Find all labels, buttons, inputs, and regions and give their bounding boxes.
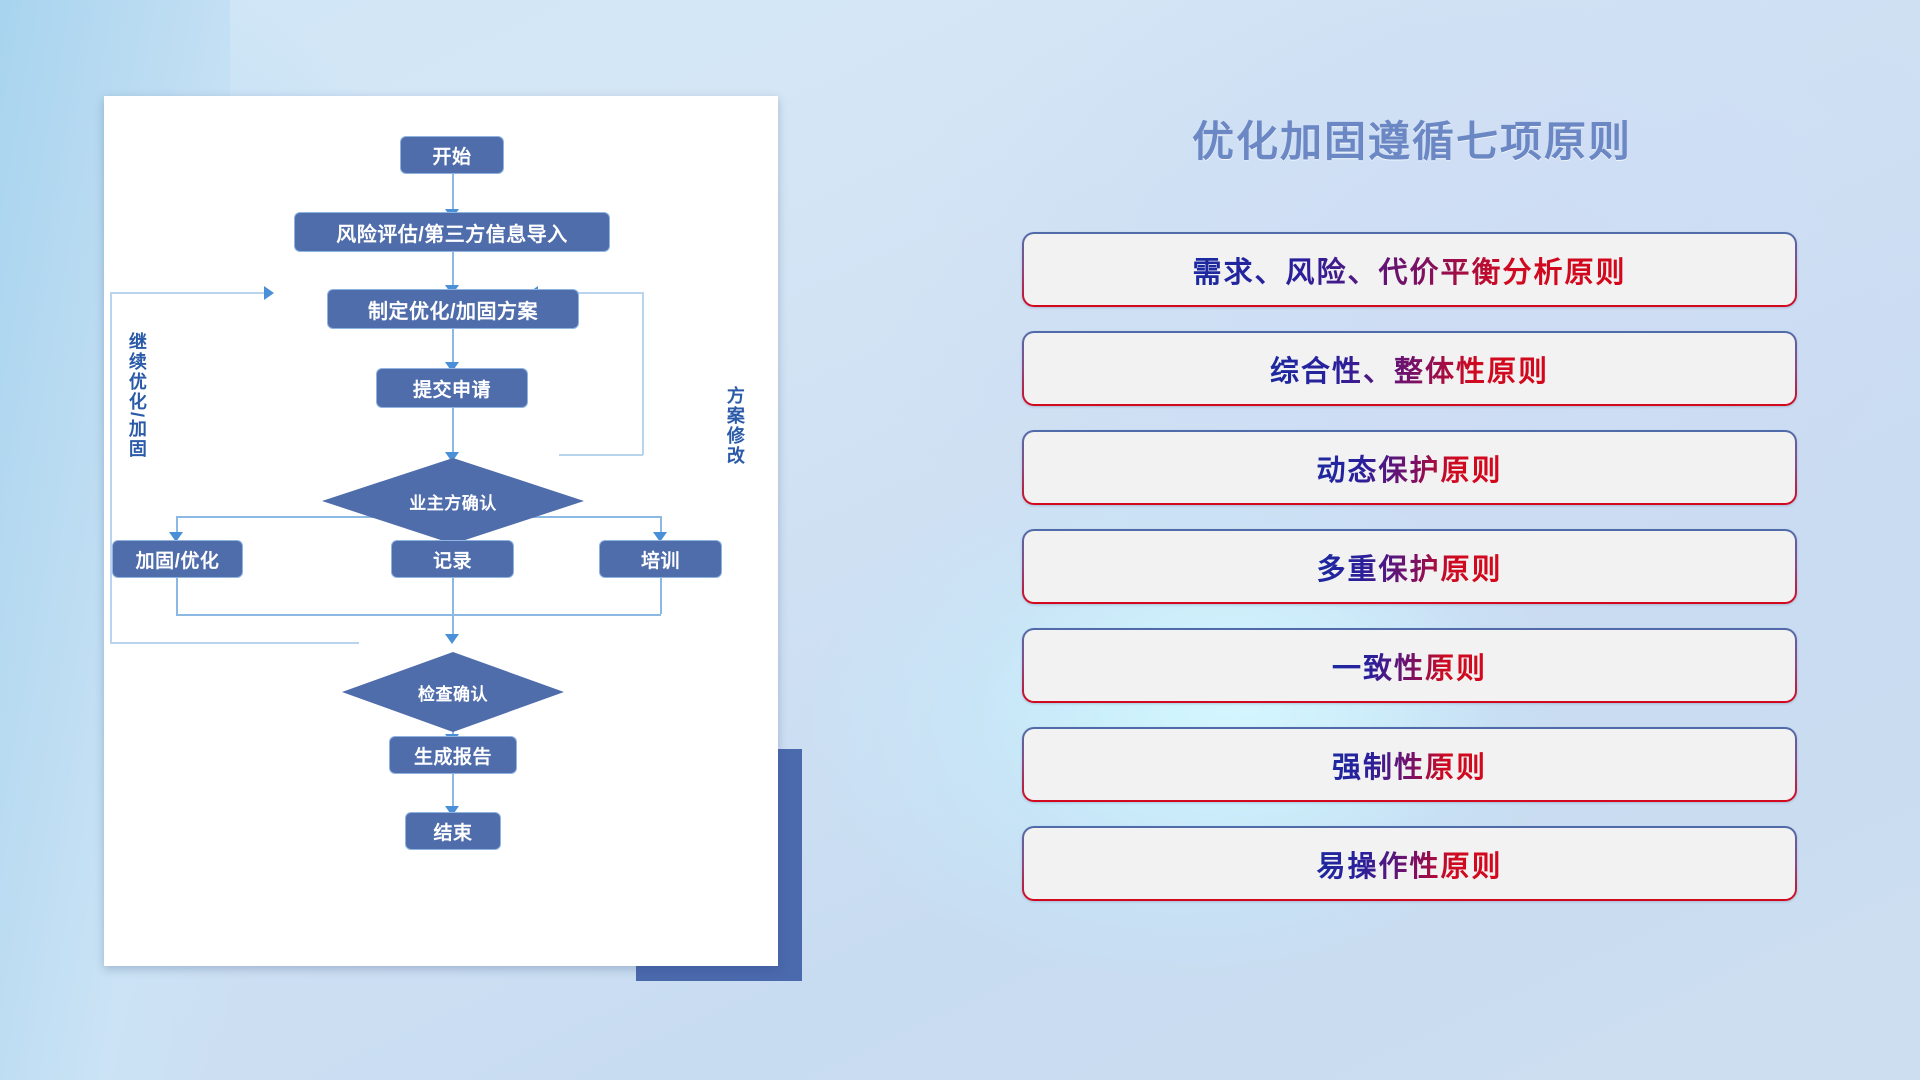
flow-node-submit[interactable]: 提交申请 xyxy=(376,368,528,408)
principle-item-inner: 动态保护原则 xyxy=(1024,432,1795,503)
principle-item-inner: 易操作性原则 xyxy=(1024,828,1795,899)
connector-merge-bar xyxy=(176,614,661,616)
edge-label-continue-optimize: 继续优化/加固 xyxy=(127,332,146,459)
principle-label: 需求、风险、代价平衡分析原则 xyxy=(1192,249,1626,291)
arrowhead-merge-check xyxy=(445,634,459,644)
principle-item[interactable]: 一致性原则 xyxy=(1022,628,1797,703)
principle-item-inner: 多重保护原则 xyxy=(1024,531,1795,602)
flow-node-label: 业主方确认 xyxy=(409,489,497,514)
flow-node-risk-assessment[interactable]: 风险评估/第三方信息导入 xyxy=(294,212,610,252)
principle-item[interactable]: 动态保护原则 xyxy=(1022,430,1797,505)
flow-node-record[interactable]: 记录 xyxy=(391,540,514,578)
principle-list: 需求、风险、代价平衡分析原则 综合性、整体性原则 动态保护原则 多重保护原则 一… xyxy=(1022,232,1797,925)
principle-item-inner: 需求、风险、代价平衡分析原则 xyxy=(1024,234,1795,305)
connector-reinforce-merge xyxy=(176,578,178,614)
principle-item[interactable]: 综合性、整体性原则 xyxy=(1022,331,1797,406)
connector-loop-right-vertical xyxy=(642,292,644,455)
flow-node-label: 检查确认 xyxy=(418,680,488,705)
page-title: 优化加固遵循七项原则 xyxy=(1022,108,1802,169)
principle-label: 多重保护原则 xyxy=(1316,546,1502,588)
connector-loop-left-bottom xyxy=(110,642,359,644)
principle-item-inner: 强制性原则 xyxy=(1024,729,1795,800)
principle-item-inner: 综合性、整体性原则 xyxy=(1024,333,1795,404)
connector-loop-right-bottom xyxy=(559,454,643,456)
connector-loop-left-vertical xyxy=(110,292,112,643)
principle-label: 一致性原则 xyxy=(1332,645,1487,687)
flow-node-owner-confirm[interactable]: 业主方确认 xyxy=(322,458,584,544)
arrowhead-loop-left xyxy=(264,286,274,300)
principle-item[interactable]: 多重保护原则 xyxy=(1022,529,1797,604)
principle-label: 综合性、整体性原则 xyxy=(1270,348,1549,390)
flowchart-card: 开始 风险评估/第三方信息导入 制定优化/加固方案 提交申请 业主方确认 加固/… xyxy=(104,96,778,966)
principle-item[interactable]: 强制性原则 xyxy=(1022,727,1797,802)
principle-label: 动态保护原则 xyxy=(1316,447,1502,489)
principle-item[interactable]: 易操作性原则 xyxy=(1022,826,1797,901)
flow-node-reinforce[interactable]: 加固/优化 xyxy=(112,540,243,578)
flow-node-start[interactable]: 开始 xyxy=(400,136,504,174)
flow-node-report[interactable]: 生成报告 xyxy=(389,736,517,774)
edge-label-plan-revision: 方案修改 xyxy=(725,386,744,466)
flow-node-plan[interactable]: 制定优化/加固方案 xyxy=(327,289,579,329)
principle-label: 易操作性原则 xyxy=(1316,843,1502,885)
principle-item[interactable]: 需求、风险、代价平衡分析原则 xyxy=(1022,232,1797,307)
connector-record-merge xyxy=(452,578,454,640)
flow-node-check-confirm[interactable]: 检查确认 xyxy=(342,652,564,732)
principle-label: 强制性原则 xyxy=(1332,744,1487,786)
flow-node-end[interactable]: 结束 xyxy=(405,812,501,850)
connector-loop-left-top xyxy=(110,292,270,294)
flow-node-training[interactable]: 培训 xyxy=(599,540,722,578)
principle-item-inner: 一致性原则 xyxy=(1024,630,1795,701)
connector-train-merge xyxy=(660,578,662,614)
